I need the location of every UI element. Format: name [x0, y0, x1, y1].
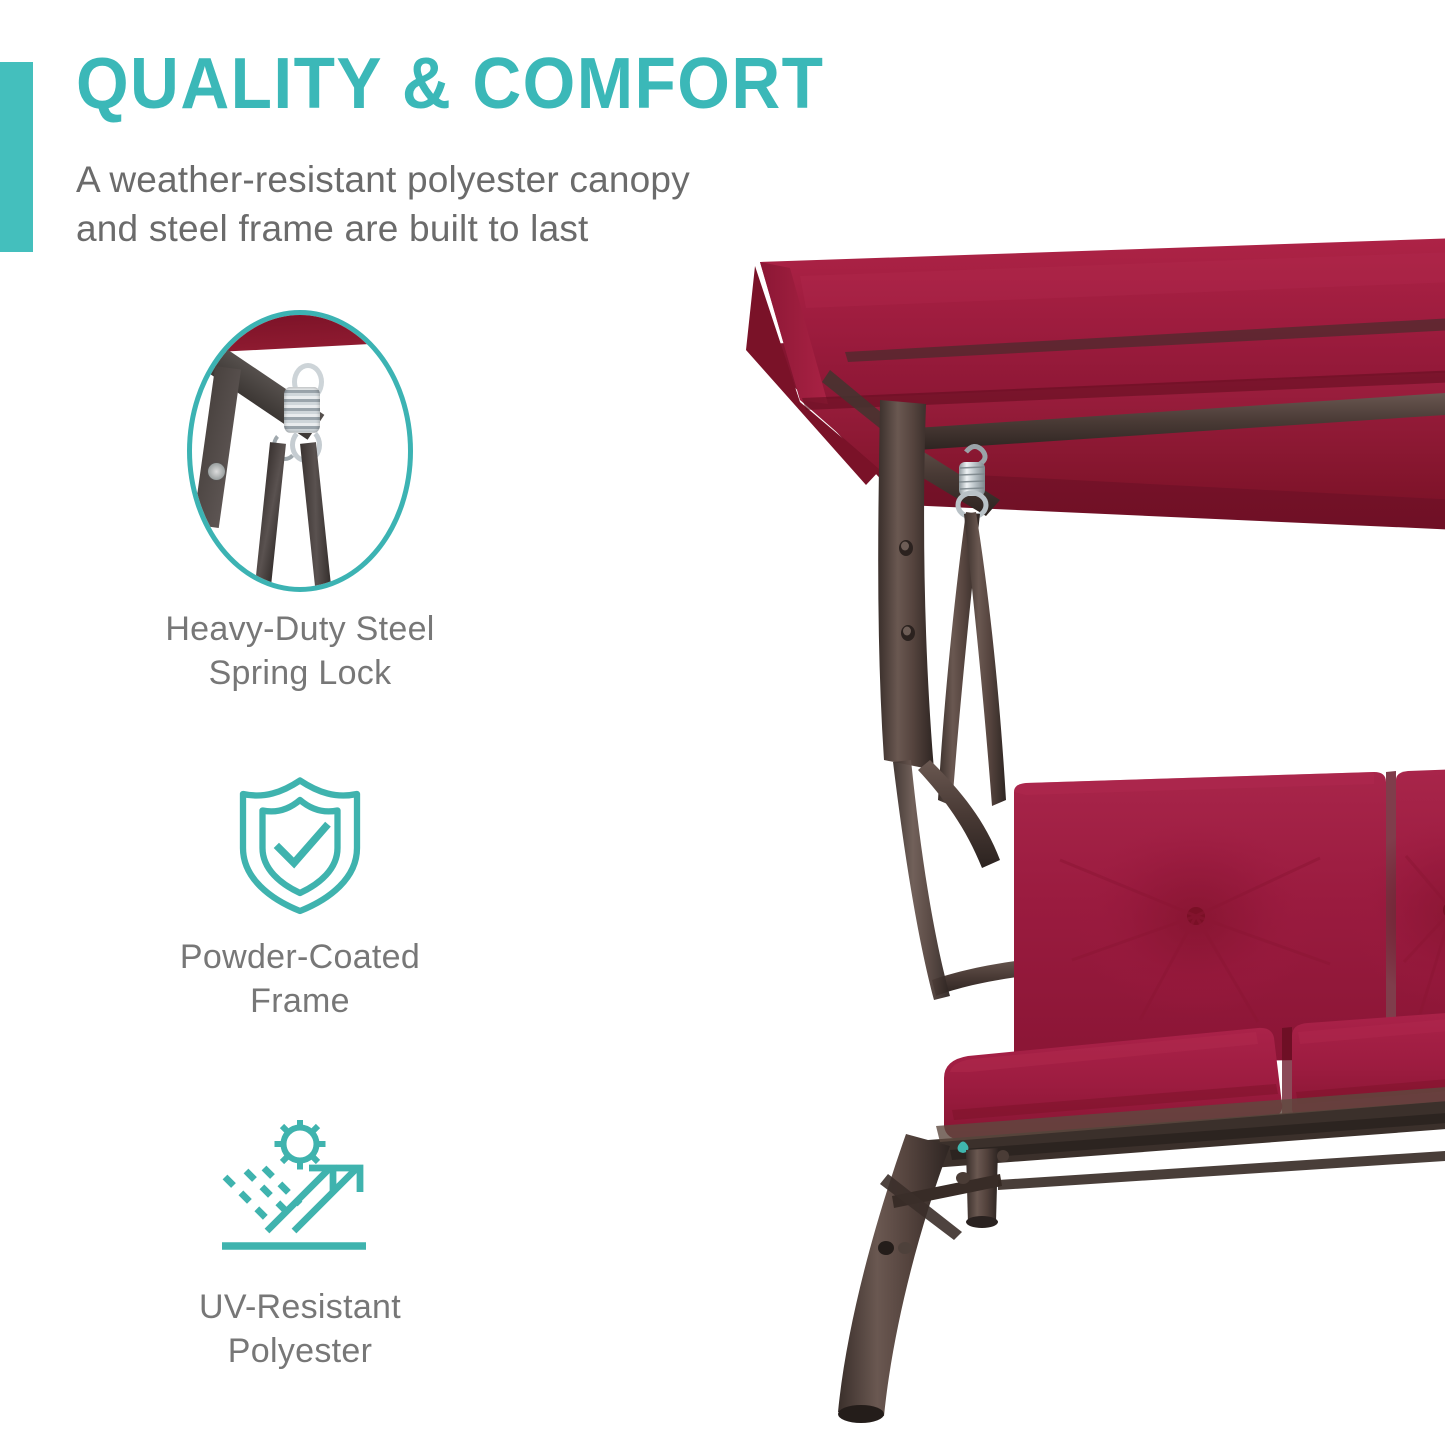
feature-2-label: Powder-Coated Frame [0, 936, 600, 1023]
feature-3-label-line-2: Polyester [0, 1330, 600, 1374]
inset-chain-right [300, 442, 332, 587]
feature-2-label-line-1: Powder-Coated [0, 936, 600, 980]
diagonal-steel-bracket [880, 432, 1000, 516]
canopy-underside [755, 300, 1445, 530]
steel-cross-brace [892, 1174, 1002, 1208]
inset-chain-left [254, 442, 286, 587]
hanging-chain-arm-right [964, 512, 1006, 806]
inset-screw [208, 463, 225, 480]
hanging-chain-arm-left [938, 512, 980, 806]
seat-cushion-left [944, 1028, 1282, 1140]
curved-steel-leg-front [838, 1134, 950, 1416]
feature-1-label: Heavy-Duty Steel Spring Lock [0, 608, 600, 695]
canopy-front-slope [800, 372, 1445, 500]
subtitle-line-1: A weather-resistant polyester canopy [76, 155, 690, 204]
canopy-end-cap [746, 266, 880, 485]
spring-lock-photo-circle [187, 310, 413, 592]
feature-uv-resistant-polyester: UV-Resistant Polyester [0, 1120, 600, 1373]
feature-2-icon-wrap [0, 770, 600, 920]
shield-check-icon [225, 770, 375, 920]
seat-cushion-right [1292, 1012, 1445, 1120]
feature-3-label-line-1: UV-Resistant [0, 1286, 600, 1330]
subtitle-line-2: and steel frame are built to last [76, 204, 690, 253]
seat-arm-support [918, 760, 1000, 868]
canopy-top [760, 238, 1445, 400]
rear-leg-post [966, 1148, 998, 1224]
uv-reflect-sun-icon [216, 1120, 384, 1270]
page-title: QUALITY & COMFORT [76, 48, 824, 120]
tufted-back-cushion-left [1014, 772, 1386, 1064]
teal-accent-bar [0, 62, 33, 252]
feature-1-label-line-1: Heavy-Duty Steel [0, 608, 600, 652]
armrest-bar [932, 958, 1042, 996]
canopy-left-edge [760, 262, 828, 404]
steel-spring-lock [959, 462, 985, 496]
steel-support-post [878, 400, 934, 770]
feature-3-label: UV-Resistant Polyester [0, 1286, 600, 1373]
tufted-back-cushion-right [1350, 769, 1445, 1058]
marketing-banner: QUALITY & COMFORT A weather-resistant po… [0, 0, 1445, 1445]
inset-bracket-lower [193, 366, 241, 528]
canopy-top-rail [885, 392, 1445, 452]
feature-heavy-duty-steel-spring-lock: Heavy-Duty Steel Spring Lock [0, 310, 600, 695]
feature-1-icon-wrap [0, 310, 600, 592]
feature-3-icon-wrap [0, 1120, 600, 1270]
feature-2-label-line-2: Frame [0, 980, 600, 1024]
seat-frame-bar [928, 1100, 1445, 1168]
page-subtitle: A weather-resistant polyester canopy and… [76, 155, 690, 253]
feature-1-label-line-2: Spring Lock [0, 652, 600, 696]
inset-spring-coil [284, 387, 320, 433]
feature-powder-coated-frame: Powder-Coated Frame [0, 770, 600, 1023]
